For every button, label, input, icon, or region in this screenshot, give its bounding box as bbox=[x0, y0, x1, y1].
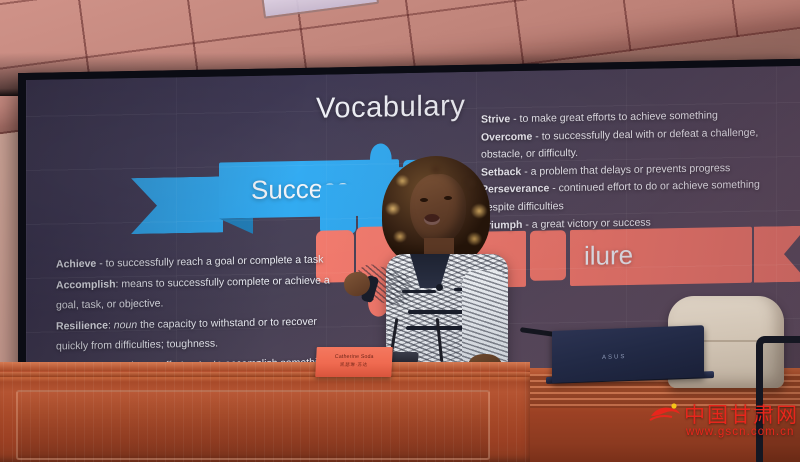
term: Strive bbox=[481, 113, 510, 126]
definition-line: Resilience: noun the capacity to withsta… bbox=[56, 311, 348, 357]
ribbon-tail bbox=[131, 176, 223, 234]
sep: - bbox=[96, 258, 105, 270]
slide-title: Vocabulary bbox=[316, 90, 466, 126]
term: Achieve bbox=[56, 258, 96, 271]
jacket-button bbox=[436, 284, 443, 291]
right-arm bbox=[462, 270, 508, 366]
definition: to successfully reach a goal or complete… bbox=[106, 254, 324, 270]
definition: a great victory or success bbox=[532, 216, 651, 230]
term: Overcome bbox=[481, 130, 532, 143]
term: Resilience bbox=[56, 319, 108, 332]
laptop-brand-label: ASUS bbox=[602, 354, 626, 361]
ribbon-fold bbox=[219, 218, 253, 235]
sep: - bbox=[549, 183, 558, 195]
definition: to make great efforts to achieve somethi… bbox=[520, 109, 718, 125]
nameplate: Catherine Soda 凯瑟琳·苏达 bbox=[315, 347, 393, 377]
nameplate-name: Catherine Soda bbox=[316, 354, 392, 360]
part-of-speech: noun bbox=[114, 318, 137, 330]
laptop: ASUS bbox=[552, 325, 704, 383]
ribbon-tail bbox=[754, 226, 800, 283]
definition-line: Accomplish: means to successfully comple… bbox=[56, 270, 348, 316]
presentation-photo: Vocabulary Success ilure bbox=[0, 0, 800, 462]
podium-front-panel bbox=[16, 390, 490, 460]
sep: - bbox=[532, 130, 541, 142]
failure-label: ilure bbox=[584, 240, 633, 272]
definition: a problem that delays or prevents progre… bbox=[531, 162, 731, 178]
watermark-logo-icon bbox=[648, 400, 682, 430]
wooden-podium bbox=[0, 362, 530, 462]
watermark-site-name: 中国甘肃网 bbox=[684, 399, 799, 429]
ceiling-light-panel bbox=[260, 0, 379, 19]
term: Accomplish bbox=[56, 278, 116, 291]
sep: - bbox=[510, 113, 519, 125]
slide-left-definitions: Achieve - to successfully reach a goal o… bbox=[56, 249, 348, 377]
watermark-url: www.gscn.com.cn bbox=[686, 426, 795, 438]
nameplate-name-cn: 凯瑟琳·苏达 bbox=[316, 362, 392, 368]
watermark: 中国甘肃网 www.gscn.com.cn bbox=[648, 398, 796, 454]
